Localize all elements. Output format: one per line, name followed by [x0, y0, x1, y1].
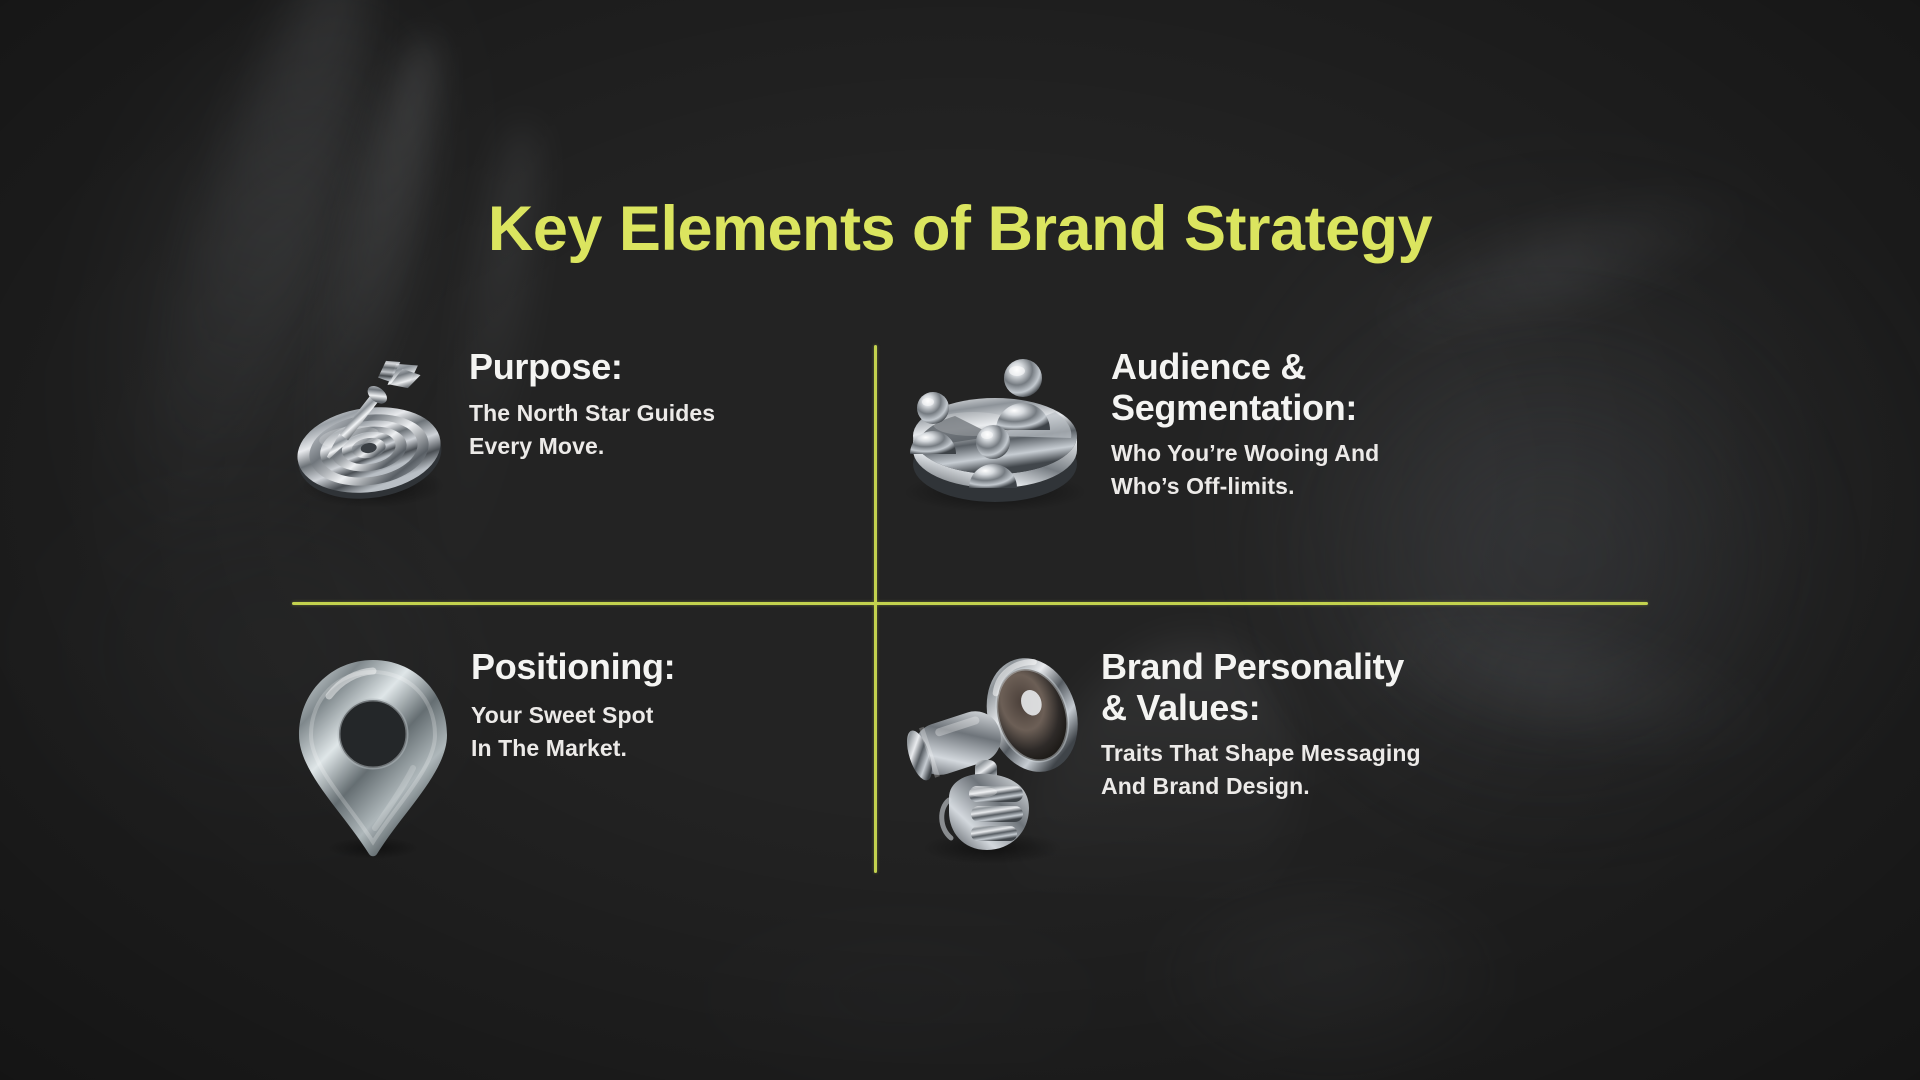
quadrant-grid: Purpose: The North Star Guides Every Mov…: [0, 0, 1920, 1080]
brand-personality-text-block: Brand Personality & Values: Traits That …: [1101, 640, 1421, 804]
quadrant-title: Positioning:: [471, 646, 675, 687]
purpose-text-block: Purpose: The North Star Guides Every Mov…: [469, 340, 715, 462]
infographic-slide: Key Elements of Brand Strategy: [0, 0, 1920, 1080]
audience-pie-segmentation-icon: [883, 346, 1105, 522]
quadrant-description: Your Sweet Spot In The Market.: [471, 699, 675, 764]
quadrant-title: Purpose:: [469, 346, 715, 387]
dartboard-target-icon: [285, 354, 461, 530]
positioning-text-block: Positioning: Your Sweet Spot In The Mark…: [471, 640, 675, 764]
quadrant-description: The North Star Guides Every Move.: [469, 397, 715, 462]
quadrant-description: Traits That Shape Messaging And Brand De…: [1101, 737, 1421, 804]
quadrant-brand-personality-values: Brand Personality & Values: Traits That …: [895, 640, 1535, 863]
quadrant-title: Audience & Segmentation:: [1111, 346, 1379, 428]
audience-text-block: Audience & Segmentation: Who You’re Wooi…: [1111, 340, 1379, 504]
quadrant-audience-segmentation: Audience & Segmentation: Who You’re Wooi…: [895, 340, 1515, 522]
quadrant-positioning: Positioning: Your Sweet Spot In The Mark…: [285, 640, 865, 865]
quadrant-purpose: Purpose: The North Star Guides Every Mov…: [285, 340, 865, 530]
megaphone-in-hand-icon: [887, 648, 1097, 863]
quadrant-title: Brand Personality & Values:: [1101, 646, 1421, 728]
map-location-pin-icon: [285, 650, 461, 865]
quadrant-description: Who You’re Wooing And Who’s Off-limits.: [1111, 437, 1379, 504]
